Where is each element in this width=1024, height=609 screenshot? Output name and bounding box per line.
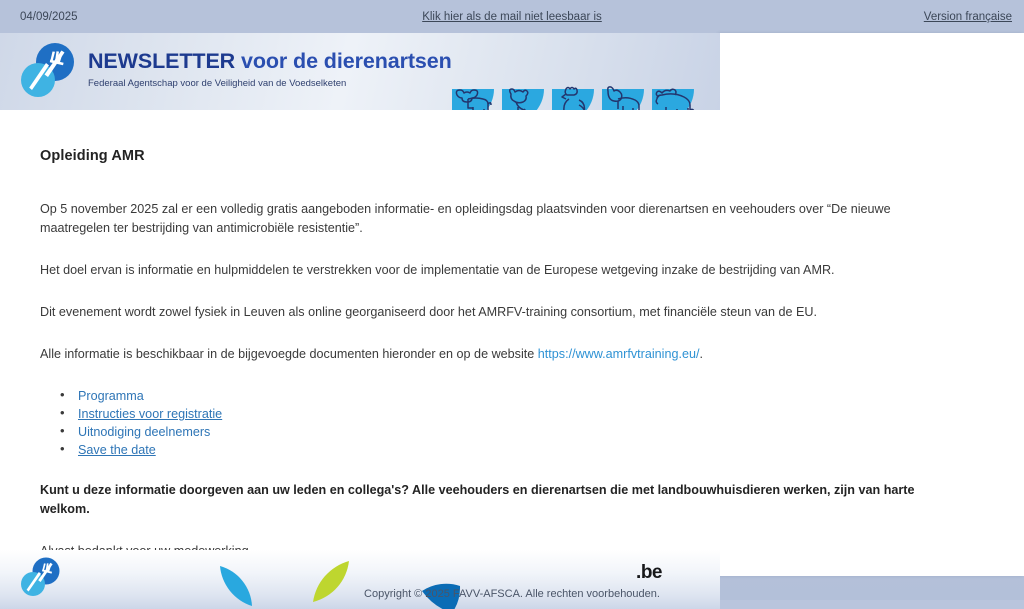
email-body: Opleiding AMR Op 5 november 2025 zal er … (0, 110, 720, 550)
agency-subtitle: Federaal Agentschap voor de Veiligheid v… (88, 78, 452, 89)
list-item: Save the date (78, 441, 952, 459)
list-item: Programma (78, 387, 952, 405)
email-card: NEWSLETTER voor de dierenartsen Federaal… (0, 33, 720, 576)
chicken-icon (548, 77, 598, 110)
email-body-inner: Opleiding AMR Op 5 november 2025 zal er … (0, 110, 966, 561)
list-item: Instructies voor registratie (78, 405, 952, 423)
leaf-shape-light-blue (211, 564, 257, 609)
document-link-save-the-date[interactable]: Save the date (78, 443, 156, 457)
language-french-link[interactable]: Version française (924, 11, 1012, 23)
view-online-wrap: Klik hier als de mail niet leesbaar is (0, 11, 1024, 23)
document-link-programma[interactable]: Programma (78, 389, 144, 403)
brand-text-block: NEWSLETTER voor de dierenartsen Federaal… (88, 51, 452, 89)
article-paragraph-1: Op 5 november 2025 zal er een volledig g… (40, 200, 952, 238)
horse-icon (598, 77, 648, 110)
language-switch-wrap: Version française (924, 11, 1012, 23)
amrfvtraining-website-link[interactable]: https://www.amrfvtraining.eu/ (538, 347, 700, 361)
article-paragraph-4-period: . (699, 347, 703, 361)
document-link-list: Programma Instructies voor registratie U… (40, 387, 952, 459)
page-title: Opleiding AMR (40, 148, 952, 164)
article-paragraph-5: Kunt u deze informatie doorgeven aan uw … (40, 481, 952, 519)
document-link-instructies-voor-registratie[interactable]: Instructies voor registratie (78, 407, 222, 421)
copyright-text: Copyright © 2025 FAVV-AFSCA. Alle rechte… (0, 588, 1024, 600)
preheader-bar: 04/09/2025 Klik hier als de mail niet le… (0, 0, 1024, 33)
article-paragraph-4: Alle informatie is beschikbaar in de bij… (40, 345, 952, 364)
newsletter-title-sub: voor de dierenartsen (235, 49, 452, 73)
email-preview-page: 04/09/2025 Klik hier als de mail niet le… (0, 0, 1024, 600)
view-in-browser-link[interactable]: Klik hier als de mail niet leesbaar is (422, 11, 602, 23)
document-link-uitnodiging-deelnemers[interactable]: Uitnodiging deelnemers (78, 425, 210, 439)
dog-icon (498, 77, 548, 110)
animal-icon-row (448, 77, 698, 110)
email-footer: .be (0, 550, 720, 609)
favv-afsca-logo-icon (14, 41, 78, 101)
article-paragraph-4-text: Alle informatie is beschikbaar in de bij… (40, 347, 538, 361)
list-item: Uitnodiging deelnemers (78, 423, 952, 441)
article-paragraph-2: Het doel ervan is informatie en hulpmidd… (40, 261, 952, 280)
newsletter-title: NEWSLETTER voor de dierenartsen (88, 51, 452, 73)
pig-icon (648, 77, 698, 110)
newsletter-title-main: NEWSLETTER (88, 49, 235, 73)
cow-icon (448, 77, 498, 110)
email-header: NEWSLETTER voor de dierenartsen Federaal… (0, 33, 720, 110)
belgium-be-logo: .be (636, 562, 662, 584)
article-paragraph-3: Dit evenement wordt zowel fysiek in Leuv… (40, 303, 952, 322)
